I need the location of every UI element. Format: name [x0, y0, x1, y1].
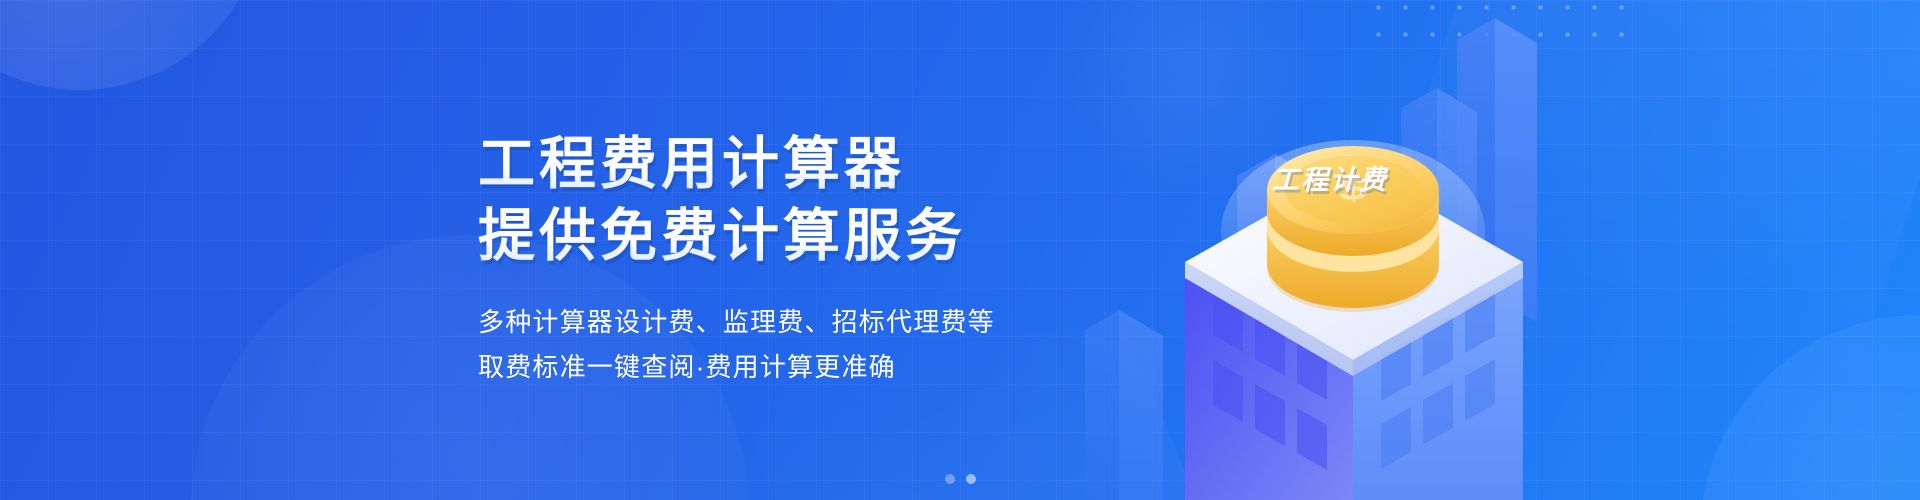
illustration-badge: 工程计费: [1272, 158, 1388, 197]
headline-line-1: 工程费用计算器: [478, 128, 1118, 200]
decorative-circle-bottom-right: [1700, 315, 1920, 500]
hero-illustration: $: [1085, 0, 1645, 500]
banner-copy: 工程费用计算器 提供免费计算服务 多种计算器设计费、监理费、招标代理费等 取费标…: [478, 128, 1118, 390]
subtitle-line-1: 多种计算器设计费、监理费、招标代理费等: [478, 300, 1118, 345]
carousel-dot-1[interactable]: [945, 474, 955, 484]
subtitle-line-2: 取费标准一键查阅·费用计算更准确: [478, 345, 1118, 390]
carousel-indicator: [0, 474, 1920, 484]
hero-banner: 工程费用计算器 提供免费计算服务 多种计算器设计费、监理费、招标代理费等 取费标…: [0, 0, 1920, 500]
decorative-circle-top-left: [0, 0, 265, 90]
headline-line-2: 提供免费计算服务: [478, 200, 1118, 272]
carousel-dot-2[interactable]: [966, 474, 976, 484]
